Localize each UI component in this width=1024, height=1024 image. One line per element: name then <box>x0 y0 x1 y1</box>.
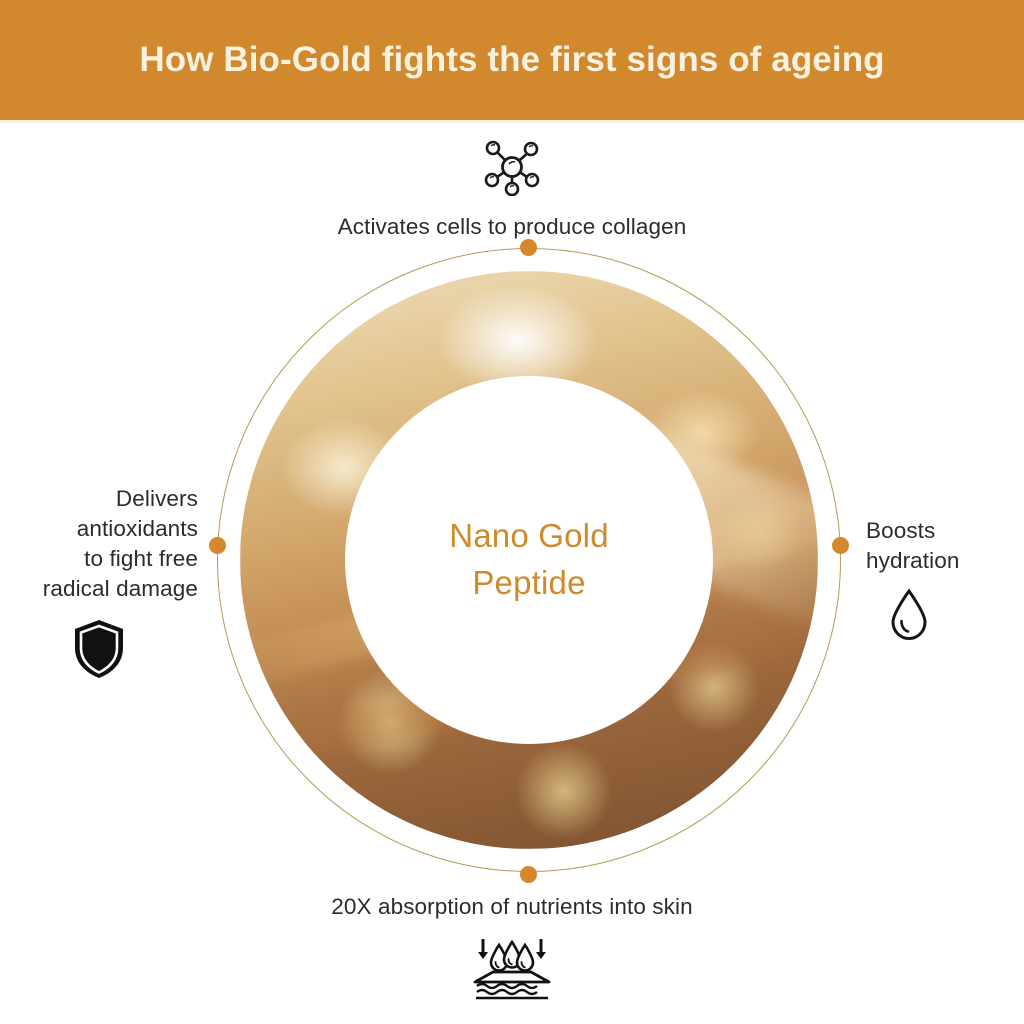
benefit-top: Activates cells to produce collagen <box>0 138 1024 242</box>
benefit-right-label-line1: Boosts <box>866 516 959 546</box>
center-disc: Nano Gold Peptide <box>345 376 713 744</box>
shield-icon <box>72 618 126 685</box>
molecule-icon <box>481 138 543 201</box>
benefit-right-label-line2: hydration <box>866 546 959 576</box>
center-label: Nano Gold Peptide <box>449 513 609 607</box>
center-label-line2: Peptide <box>449 560 609 607</box>
benefit-left-label-line3: to fight free <box>0 544 198 574</box>
benefit-left-label-line2: antioxidants <box>0 514 198 544</box>
benefit-left-label-line4: radical damage <box>0 574 198 604</box>
ring-node-dot-right[interactable] <box>832 537 849 554</box>
absorption-skin-icon <box>469 936 555 1007</box>
infographic-page: How Bio-Gold fights the first signs of a… <box>0 0 1024 1024</box>
water-droplet-icon <box>888 588 930 647</box>
benefit-right-label: Boosts hydration <box>866 516 959 576</box>
benefit-right: Boosts hydration <box>866 516 1024 647</box>
ring-node-dot-left[interactable] <box>209 537 226 554</box>
benefit-left-label-line1: Delivers <box>0 484 198 514</box>
benefit-bottom: 20X absorption of nutrients into skin <box>0 892 1024 1007</box>
ring-node-dot-bottom[interactable] <box>520 866 537 883</box>
benefit-bottom-label: 20X absorption of nutrients into skin <box>331 892 692 922</box>
benefit-left-label: Delivers antioxidants to fight free radi… <box>0 484 198 604</box>
benefit-left: Delivers antioxidants to fight free radi… <box>0 484 198 685</box>
center-label-line1: Nano Gold <box>449 513 609 560</box>
benefit-top-label: Activates cells to produce collagen <box>338 212 687 242</box>
